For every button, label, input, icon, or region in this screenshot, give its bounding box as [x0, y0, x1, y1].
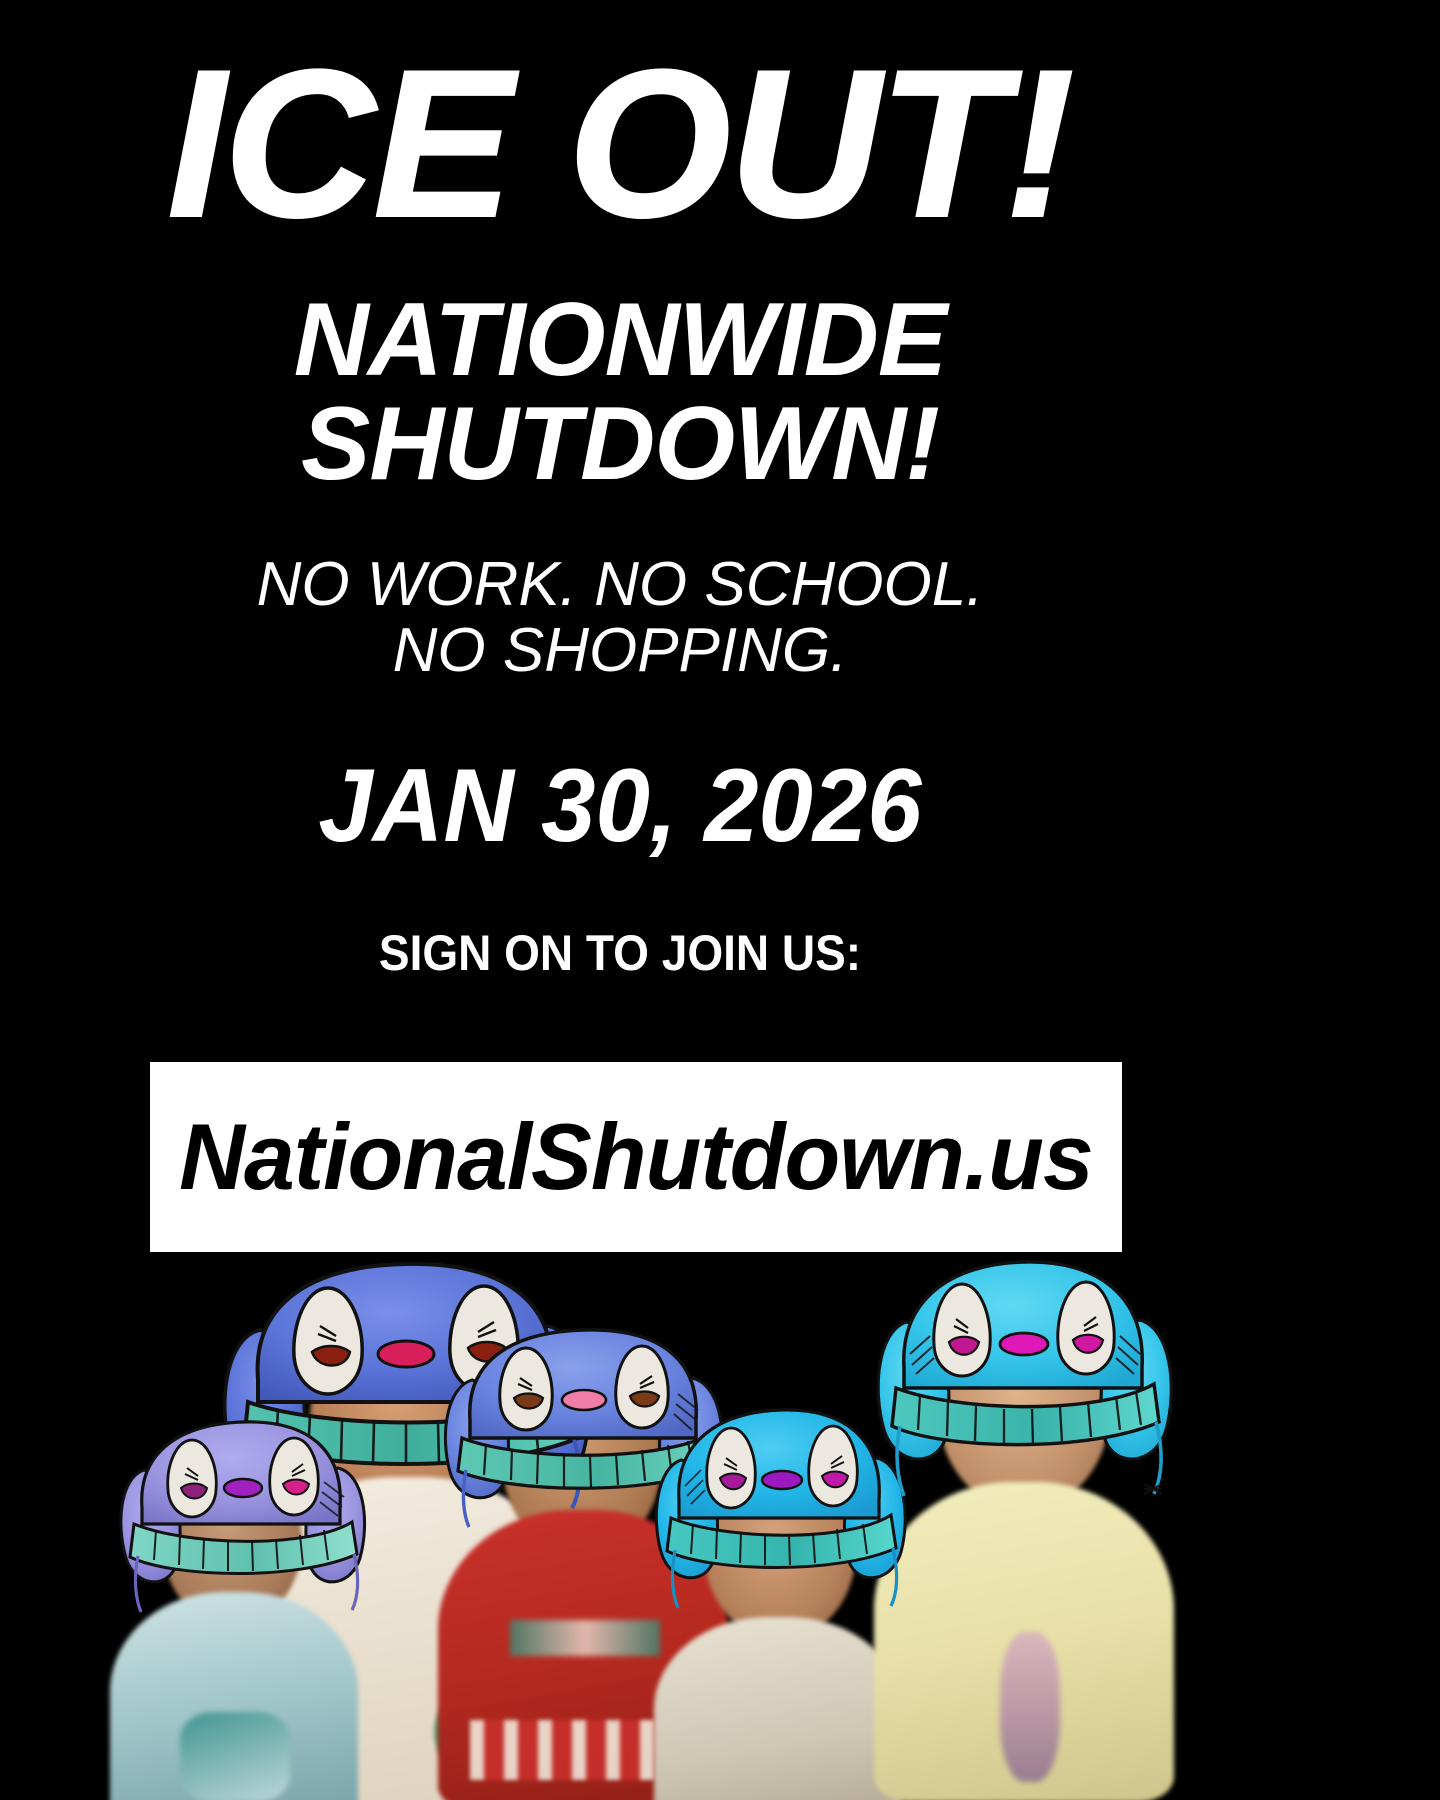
url-banner[interactable]: NationalShutdown.us — [150, 1062, 1122, 1252]
photo-collage — [0, 1252, 1240, 1800]
held-object — [1000, 1632, 1060, 1782]
website-url[interactable]: NationalShutdown.us — [179, 1103, 1093, 1211]
subheadline: NATIONWIDE SHUTDOWN! — [0, 244, 1240, 496]
jacket-detail — [180, 1712, 290, 1800]
drawn-hat-child-5 — [858, 1252, 1188, 1502]
tagline: NO WORK. NO SCHOOL. NO SHOPPING. — [0, 496, 1240, 686]
collar — [510, 1620, 660, 1656]
event-date: JAN 30, 2026 — [37, 685, 1203, 866]
call-to-action-label: SIGN ON TO JOIN US: — [50, 866, 1191, 982]
drawn-hat-child-1 — [108, 1412, 378, 1617]
subheadline-line-1: NATIONWIDE — [294, 282, 946, 398]
page-title: ICE OUT! — [0, 0, 1240, 244]
tagline-line-2: NO SHOPPING. — [0, 618, 1240, 685]
poster-text-stack: ICE OUT! NATIONWIDE SHUTDOWN! NO WORK. N… — [0, 0, 1240, 982]
tagline-line-1: NO WORK. NO SCHOOL. — [257, 550, 984, 619]
poster-canvas: ICE OUT! NATIONWIDE SHUTDOWN! NO WORK. N… — [0, 0, 1240, 1800]
subheadline-line-2: SHUTDOWN! — [0, 392, 1240, 496]
